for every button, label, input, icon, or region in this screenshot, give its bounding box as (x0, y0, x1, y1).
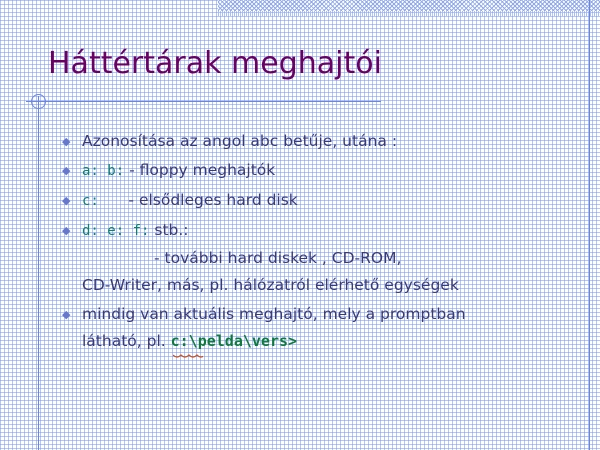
list-item-text: mindig van aktuális meghajtó, mely a pro… (82, 301, 590, 355)
prompt-path-wrapper: c:\pelda\vers> (171, 328, 297, 355)
diamond-bullet-icon: ◆ (60, 187, 82, 214)
list-item: ◆ d: e: f: stb.: - további hard diskek ,… (60, 217, 590, 299)
list-item: ◆ a: b: - floppy meghajtók (60, 157, 590, 185)
diamond-bullet-icon: ◆ (60, 217, 82, 244)
list-item: ◆ mindig van aktuális meghajtó, mely a p… (60, 301, 590, 355)
diamond-bullet-icon: ◆ (60, 157, 82, 184)
slide-body: ◆ Azonosítása az angol abc betűje, utána… (60, 128, 590, 357)
list-item-text: Azonosítása az angol abc betűje, utána : (82, 128, 590, 155)
bullet-4-first-line: d: e: f: stb.: (82, 217, 590, 245)
decorative-vertical-line (38, 96, 39, 450)
bullet-4-continuation-1: - további hard diskek , CD-ROM, (82, 245, 590, 272)
list-item: ◆ c: - elsődleges hard disk (60, 187, 590, 215)
page-title: Háttértárak meghajtói (48, 46, 382, 82)
bullet-5-first-line: mindig van aktuális meghajtó, mely a pro… (82, 301, 590, 328)
decorative-circle-icon (31, 94, 46, 109)
list-item: ◆ Azonosítása az angol abc betűje, utána… (60, 128, 590, 155)
top-band-dotted-edge (218, 11, 600, 16)
drive-letters-def: d: e: f: (82, 223, 149, 239)
list-item-text: d: e: f: stb.: - további hard diskek , C… (82, 217, 590, 299)
bullet-2-text: - floppy meghajtók (124, 161, 275, 179)
decorative-horizontal-line (26, 101, 381, 102)
prompt-path: c:\pelda\vers> (171, 332, 297, 350)
diamond-bullet-icon: ◆ (60, 128, 82, 155)
list-item-text: a: b: - floppy meghajtók (82, 157, 590, 185)
bullet-5-continuation-text: látható, pl. (82, 332, 171, 350)
drive-letter-c: c: (82, 193, 99, 209)
drive-letters-floppy: a: b: (82, 163, 124, 179)
list-item-text: c: - elsődleges hard disk (82, 187, 590, 215)
bullet-1-text: Azonosítása az angol abc betűje, utána : (82, 132, 397, 150)
diamond-bullet-icon: ◆ (60, 301, 82, 328)
top-hatched-band (218, 0, 600, 11)
bullet-5-continuation: látható, pl. c:\pelda\vers> (82, 328, 590, 355)
spellcheck-squiggle-icon (173, 354, 203, 359)
spacer-text (99, 191, 129, 209)
bullet-3-text: - elsődleges hard disk (128, 191, 297, 209)
bullet-4-continuation-2: CD-Writer, más, pl. hálózatról elérhető … (82, 272, 590, 299)
bullet-4-text: stb.: (149, 221, 188, 239)
